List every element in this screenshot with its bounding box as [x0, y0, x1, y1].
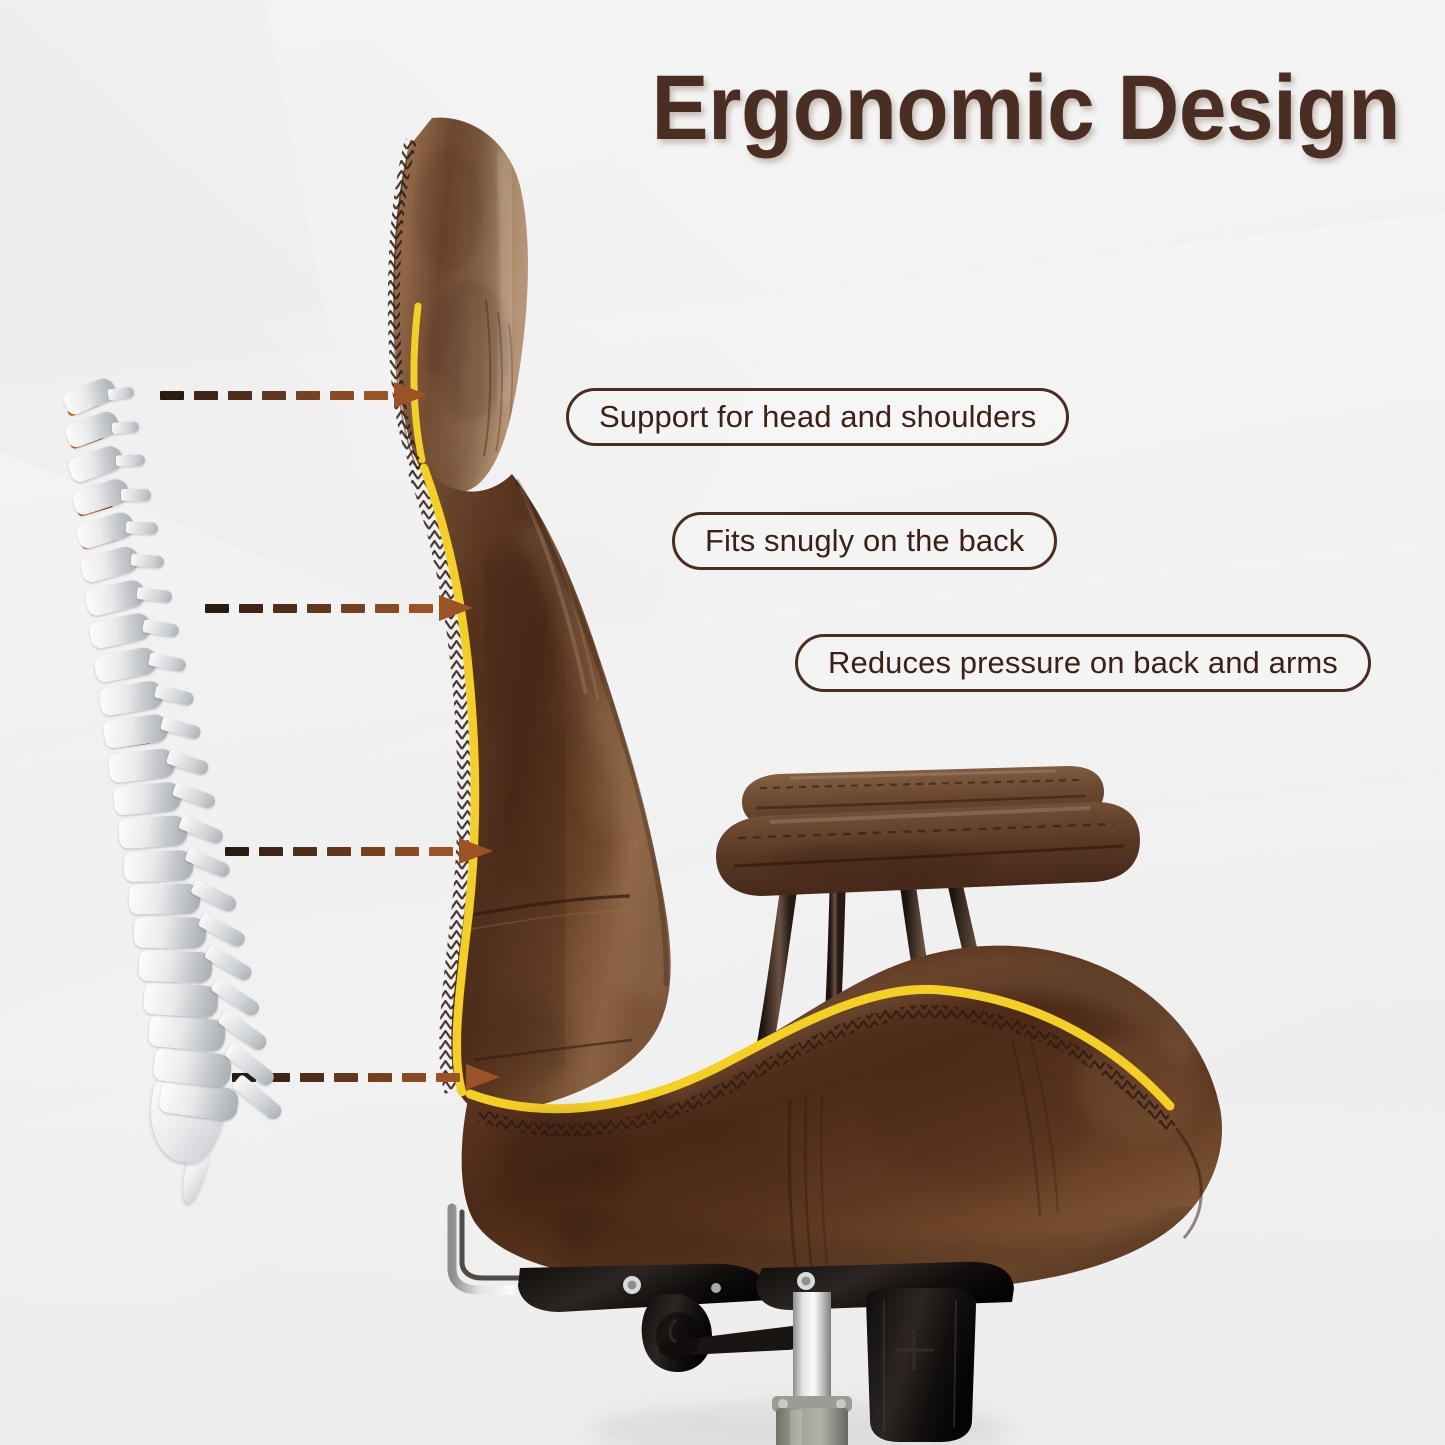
vertebra [123, 849, 193, 881]
gas-lift-cover [866, 1288, 976, 1442]
spinous-process [121, 488, 151, 500]
arrow-thoracic [205, 595, 385, 621]
vertebra [118, 815, 188, 849]
spinous-process [116, 455, 145, 467]
armrest-lower-pad [716, 802, 1140, 896]
vertebra [138, 949, 212, 983]
vertebra [143, 982, 219, 1018]
arrow-lumbar [225, 838, 415, 864]
chair-backrest [413, 462, 671, 1113]
spinous-process [126, 521, 158, 534]
seat-contact-shadow [490, 1110, 630, 1190]
office-chair-illustration [0, 0, 1445, 1445]
spinous-process [111, 421, 139, 434]
callout-support-head-shoulders[interactable]: Support for head and shoulders [566, 388, 1069, 446]
chair-headrest [394, 118, 528, 494]
vertebra [134, 917, 206, 949]
infographic-canvas: Ergonomic Design [0, 0, 1445, 1445]
gas-lift-cylinder [772, 1292, 852, 1445]
vertebra [113, 781, 182, 816]
vertebra [129, 884, 200, 915]
callout-fits-snugly-back[interactable]: Fits snugly on the back [672, 512, 1057, 570]
callout-reduces-pressure[interactable]: Reduces pressure on back and arms [795, 634, 1371, 692]
arrow-cervical [160, 382, 340, 408]
